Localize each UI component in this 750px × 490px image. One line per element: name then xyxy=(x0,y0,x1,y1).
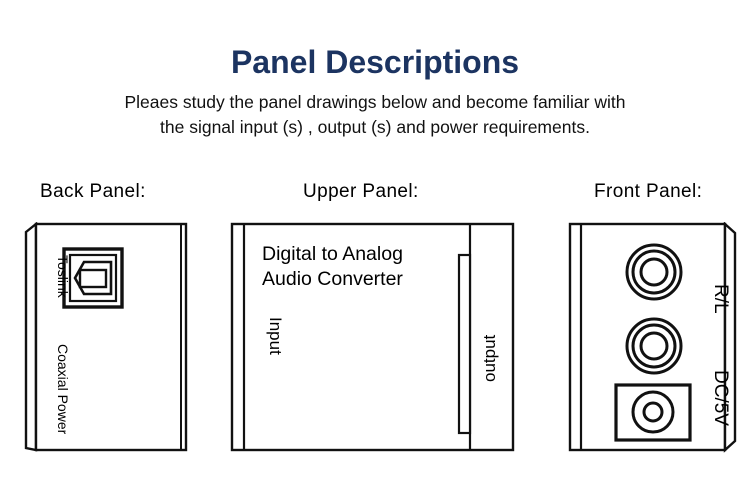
back-panel-svg: Toslink Coaxial Power xyxy=(24,222,194,458)
toslink-label: Toslink xyxy=(55,255,71,299)
product-name-line-1: Digital to Analog xyxy=(262,243,403,265)
page-title: Panel Descriptions xyxy=(0,44,750,80)
intro-line-2: the signal input (s) , output (s) and po… xyxy=(75,115,675,140)
upper-panel-heading: Upper Panel: xyxy=(303,181,419,203)
toslink-connector-slot xyxy=(80,270,106,287)
intro-line-1: Pleaes study the panel drawings below an… xyxy=(75,90,675,115)
upper-panel-drawing: Digital to Analog Audio Converter Input … xyxy=(230,222,518,458)
dc-label: DC/5V xyxy=(710,370,731,426)
rca-jack-upper-icon xyxy=(627,245,681,299)
upper-panel-output-slot xyxy=(459,255,470,433)
dc-power-jack-icon xyxy=(616,385,690,440)
rca-lower-inner-ring xyxy=(641,333,667,359)
front-panel-drawing: R/L DC/5V xyxy=(568,222,748,458)
input-label: Input xyxy=(266,317,285,355)
back-panel-side-face xyxy=(26,224,36,450)
front-panel-svg: R/L DC/5V xyxy=(568,222,748,458)
dc-jack-pin-hole xyxy=(644,403,662,421)
output-label: output xyxy=(480,334,499,382)
upper-panel-svg: Digital to Analog Audio Converter Input … xyxy=(230,222,518,458)
intro-paragraph: Pleaes study the panel drawings below an… xyxy=(75,90,675,140)
back-panel-heading: Back Panel: xyxy=(40,181,146,203)
back-panel-drawing: Toslink Coaxial Power xyxy=(24,222,194,458)
rca-label: R/L xyxy=(710,284,731,314)
rca-upper-inner-ring xyxy=(641,259,667,285)
rca-jack-lower-icon xyxy=(627,319,681,373)
front-panel-heading: Front Panel: xyxy=(594,181,702,203)
product-name-line-2: Audio Converter xyxy=(262,268,403,290)
coaxial-power-label: Coaxial Power xyxy=(55,344,71,435)
toslink-port-icon xyxy=(64,249,122,307)
